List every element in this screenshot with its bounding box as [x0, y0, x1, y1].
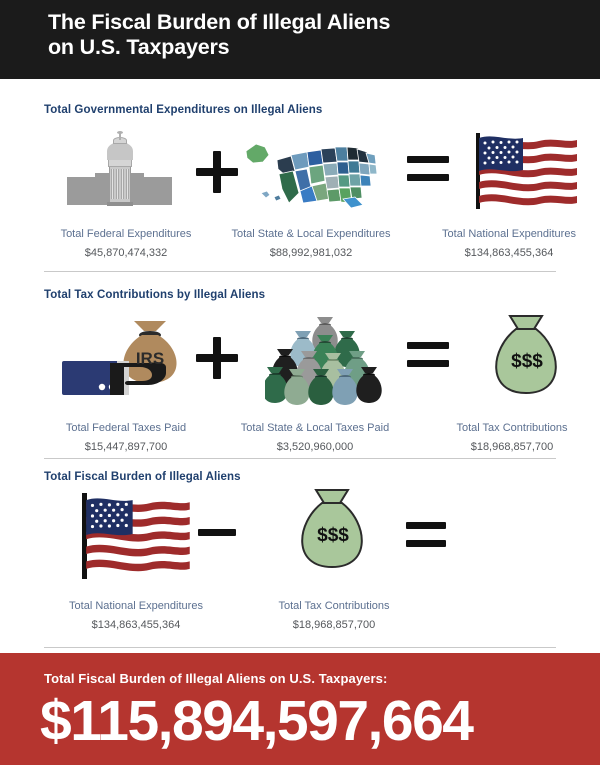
- footer-label: Total Fiscal Burden of Illegal Aliens on…: [44, 671, 387, 686]
- equals-operator-icon: [407, 156, 449, 182]
- plus-operator-icon: [196, 151, 238, 193]
- money-bag-icon: $$$: [480, 313, 576, 405]
- cell-amount: $45,870,474,332: [36, 245, 216, 261]
- section-expenditures: Total Governmental Expenditures on Illeg…: [0, 79, 600, 275]
- cell-label: Total State & Local Expenditures: [216, 227, 406, 242]
- cell-amount: $88,992,981,032: [216, 245, 406, 261]
- cell-national-expenditures: Total National Expenditures $134,863,455…: [44, 599, 228, 633]
- cell-label: Total National Expenditures: [44, 599, 228, 614]
- section-divider: [44, 271, 556, 272]
- us-flag-icon: [78, 493, 194, 581]
- page-title: The Fiscal Burden of Illegal Aliens on U…: [48, 10, 568, 60]
- cell-federal-taxes-paid: Total Federal Taxes Paid $15,447,897,700: [36, 421, 216, 455]
- cell-amount: $3,520,960,000: [222, 439, 408, 455]
- money-bag-icon: $$$: [286, 487, 382, 579]
- section-expenditures-title: Total Governmental Expenditures on Illeg…: [44, 104, 322, 116]
- header-banner: The Fiscal Burden of Illegal Aliens on U…: [0, 0, 600, 79]
- equals-operator-icon: [407, 342, 449, 368]
- money-bag-label: $$$: [286, 525, 380, 547]
- infographic-body: Total Governmental Expenditures on Illeg…: [0, 79, 600, 650]
- us-map-svg: [243, 131, 379, 211]
- cell-label: Total Tax Contributions: [432, 421, 592, 436]
- cell-amount: $15,447,897,700: [36, 439, 216, 455]
- section-divider: [44, 647, 556, 648]
- cell-label: Total Federal Taxes Paid: [36, 421, 216, 436]
- cell-total-tax-contributions: Total Tax Contributions $18,968,857,700: [252, 599, 416, 633]
- cell-state-local-expenditures: Total State & Local Expenditures $88,992…: [216, 227, 406, 261]
- us-flag-svg: [479, 136, 579, 206]
- cell-label: Total National Expenditures: [424, 227, 594, 242]
- us-flag-icon: [472, 131, 580, 211]
- irs-money-bag-hand-svg: IRS: [62, 317, 202, 405]
- cell-federal-expenditures: Total Federal Expenditures $45,870,474,3…: [36, 227, 216, 261]
- section-fiscal-burden: Total Fiscal Burden of Illegal Aliens: [0, 461, 600, 650]
- page-title-line-2: on U.S. Taxpayers: [48, 35, 568, 60]
- section-tax-contributions: Total Tax Contributions by Illegal Alien…: [0, 275, 600, 461]
- minus-operator-icon: [198, 529, 236, 537]
- section-divider: [44, 458, 556, 459]
- cell-national-expenditures: Total National Expenditures $134,863,455…: [424, 227, 594, 261]
- section-tax-contributions-title: Total Tax Contributions by Illegal Alien…: [44, 289, 265, 301]
- page-title-line-1: The Fiscal Burden of Illegal Aliens: [48, 10, 568, 35]
- footer-banner: Total Fiscal Burden of Illegal Aliens on…: [0, 653, 600, 765]
- plus-operator-icon: [196, 337, 238, 379]
- footer-total-amount: $115,894,597,664: [40, 686, 580, 756]
- infographic-page: The Fiscal Burden of Illegal Aliens on U…: [0, 0, 600, 765]
- cell-amount: $18,968,857,700: [252, 617, 416, 633]
- cell-label: Total Tax Contributions: [252, 599, 416, 614]
- section-fiscal-burden-title: Total Fiscal Burden of Illegal Aliens: [44, 471, 241, 483]
- money-bags-cluster-svg: [265, 315, 389, 407]
- cell-amount: $134,863,455,364: [44, 617, 228, 633]
- cell-amount: $18,968,857,700: [432, 439, 592, 455]
- svg-text:IRS: IRS: [136, 349, 164, 368]
- money-bags-cluster-icon: [265, 315, 389, 407]
- cell-label: Total Federal Expenditures: [36, 227, 216, 242]
- equals-operator-icon: [406, 522, 446, 548]
- cell-amount: $134,863,455,364: [424, 245, 594, 261]
- cell-state-local-taxes-paid: Total State & Local Taxes Paid $3,520,96…: [222, 421, 408, 455]
- irs-money-bag-hand-icon: IRS: [62, 317, 202, 405]
- cell-total-tax-contributions: Total Tax Contributions $18,968,857,700: [432, 421, 592, 455]
- money-bag-label: $$$: [480, 351, 574, 373]
- capitol-building-icon: [67, 133, 172, 209]
- cell-label: Total State & Local Taxes Paid: [222, 421, 408, 436]
- us-flag-svg: [86, 498, 192, 572]
- us-map-icon: [243, 131, 379, 211]
